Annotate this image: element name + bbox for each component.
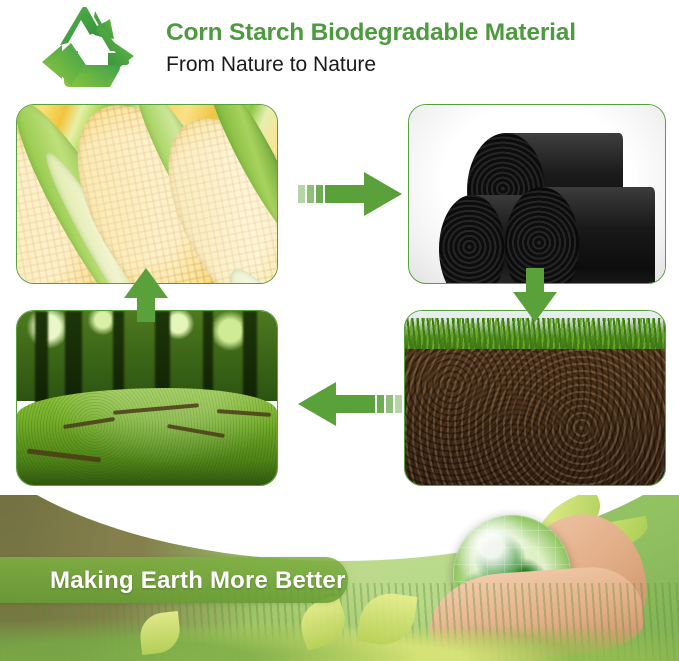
arrow-soil-to-moss [298,382,402,426]
tree-trunk [35,311,48,408]
page-title: Corn Starch Biodegradable Material [166,18,576,48]
arrow-bags-to-soil [513,268,557,322]
bags-artwork [409,105,665,283]
header: Corn Starch Biodegradable Material From … [0,0,679,98]
corn-cobs-photo [16,104,278,284]
moss-artwork [17,311,277,485]
leaf-spray [138,611,182,655]
recycle-icon [38,7,142,91]
soil-layer [405,349,665,485]
soil-artwork [405,311,665,485]
page-subtitle: From Nature to Nature [166,50,576,79]
title-block: Corn Starch Biodegradable Material From … [166,18,576,79]
moss-ground [17,388,277,485]
leaf-spray [357,589,418,648]
bottom-banner: Making Earth More Better [0,495,679,661]
black-trash-bag-rolls-photo [408,104,666,284]
arrow-moss-to-corn [124,268,168,322]
grass-layer [405,318,665,353]
mossy-forest-floor-photo [16,310,278,486]
tree-trunk [243,311,257,408]
slogan-text: Making Earth More Better [50,567,346,595]
arrow-corn-to-bags [298,172,402,216]
soil-cross-section-photo [404,310,666,486]
corn-artwork [17,105,277,283]
leaf-spray [294,595,351,651]
